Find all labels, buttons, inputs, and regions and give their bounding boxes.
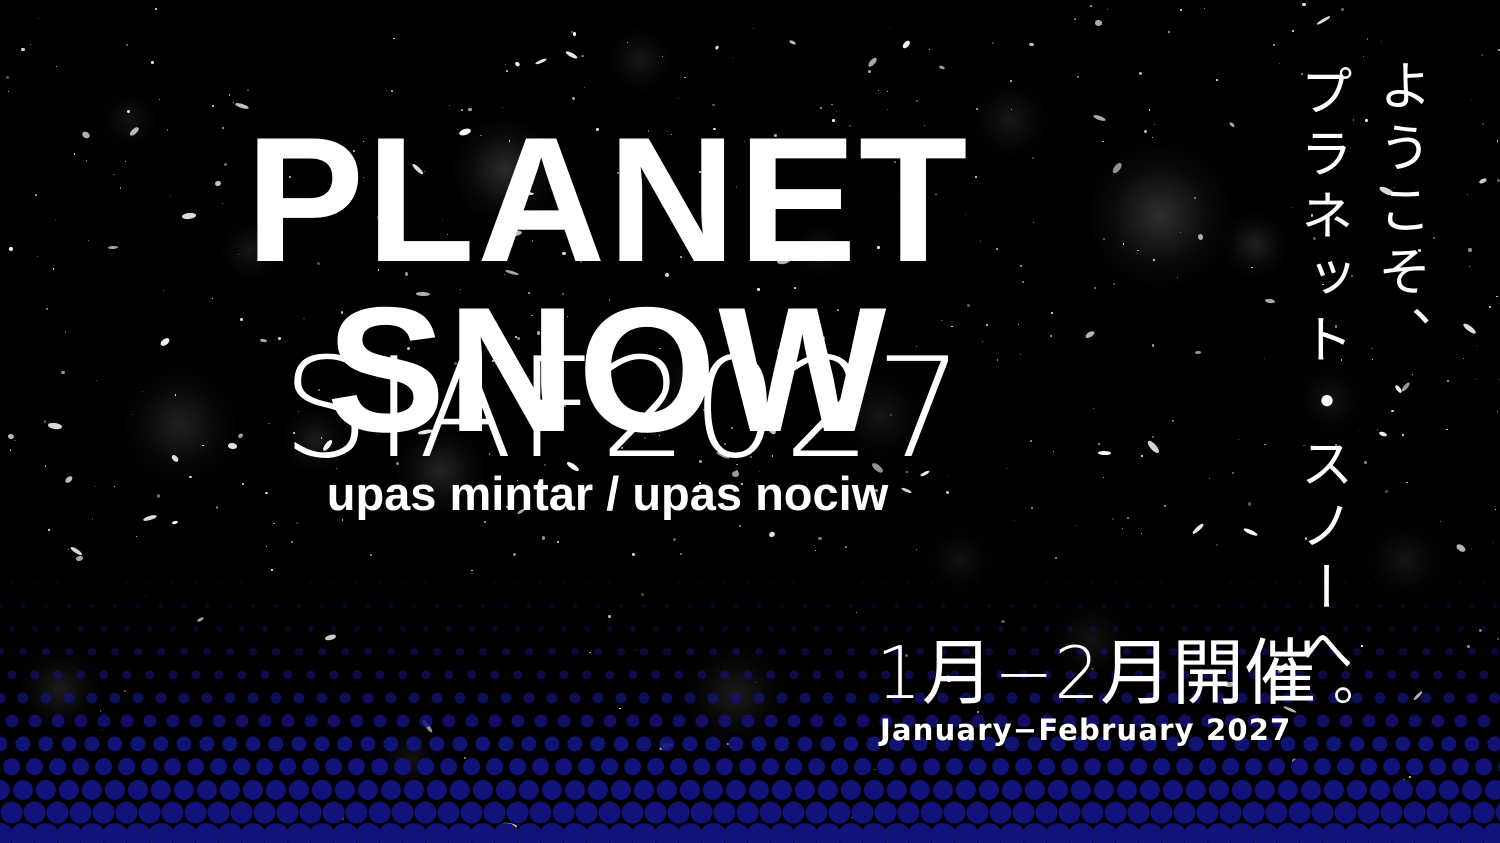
halftone-dot: [245, 736, 260, 751]
halftone-dot: [159, 603, 164, 608]
halftone-dot: [672, 714, 685, 727]
halftone-row: [0, 801, 1500, 824]
halftone-dot: [544, 736, 559, 751]
halftone-dot: [674, 670, 683, 679]
halftone-dot: [189, 714, 202, 727]
halftone-dot: [782, 801, 805, 824]
halftone-dot: [1068, 581, 1072, 585]
halftone-dot: [736, 801, 759, 824]
snowflake-particle: [1094, 20, 1102, 26]
halftone-dot: [661, 692, 672, 703]
halftone-dot: [1487, 736, 1500, 751]
halftone-dot: [1196, 801, 1219, 824]
halftone-dot: [295, 648, 303, 656]
halftone-dot: [597, 558, 600, 561]
halftone-dot: [1288, 801, 1311, 824]
halftone-dot: [1471, 558, 1474, 561]
halftone-dot: [28, 714, 41, 727]
halftone-dot: [424, 581, 428, 585]
halftone-dot: [780, 603, 785, 608]
star-particle: [1467, 194, 1468, 195]
halftone-dot: [3, 758, 21, 776]
halftone-dot: [562, 581, 566, 585]
halftone-dot: [45, 558, 48, 561]
halftone-dot: [1160, 581, 1164, 585]
halftone-dot: [368, 801, 391, 824]
halftone-dot: [102, 823, 128, 843]
halftone-dot: [657, 779, 677, 799]
halftone-dot: [1449, 801, 1472, 824]
star-particle: [1302, 3, 1306, 7]
halftone-dot: [281, 714, 294, 727]
halftone-dot: [125, 581, 129, 585]
star-particle: [1180, 9, 1182, 11]
halftone-dot: [1390, 581, 1394, 585]
halftone-dot: [943, 801, 966, 824]
halftone-dot: [525, 648, 533, 656]
halftone-dot: [723, 581, 727, 585]
star-particle: [581, 55, 584, 58]
halftone-dot: [293, 692, 304, 703]
halftone-dot: [214, 670, 223, 679]
halftone-dot: [1485, 779, 1500, 799]
halftone-dot: [1176, 758, 1194, 776]
halftone-dot: [601, 758, 619, 776]
halftone-dot: [1426, 801, 1449, 824]
halftone-dot: [475, 736, 490, 751]
halftone-dot: [1425, 558, 1428, 561]
halftone-dot: [551, 558, 554, 561]
halftone-dot: [1125, 603, 1130, 608]
halftone-dot: [272, 648, 280, 656]
halftone-dot: [608, 581, 612, 585]
halftone-dot: [1011, 558, 1014, 561]
snowflake-particle: [769, 531, 776, 538]
halftone-dot: [649, 714, 662, 727]
halftone-dot: [801, 648, 809, 656]
halftone-dot: [1376, 648, 1384, 656]
halftone-dot: [1357, 801, 1380, 824]
bokeh-blob: [605, 25, 675, 95]
halftone-dot: [151, 779, 171, 799]
halftone-dot: [210, 758, 228, 776]
halftone-dot: [137, 558, 140, 561]
halftone-dot: [613, 736, 628, 751]
halftone-dot: [723, 823, 749, 843]
halftone-dot: [505, 558, 508, 561]
star-particle: [1076, 525, 1077, 526]
halftone-dot: [528, 558, 531, 561]
halftone-dot: [493, 823, 519, 843]
halftone-dot: [766, 670, 775, 679]
halftone-dot: [91, 558, 94, 561]
halftone-dot: [759, 801, 782, 824]
halftone-dot: [1264, 558, 1267, 561]
halftone-dot: [473, 779, 493, 799]
halftone-dot: [373, 714, 386, 727]
halftone-dot: [114, 558, 117, 561]
halftone-dot: [240, 581, 244, 585]
halftone-dot: [238, 625, 244, 631]
star-particle: [1122, 528, 1124, 530]
halftone-dot: [1150, 801, 1173, 824]
star-particle: [212, 105, 214, 107]
halftone-dot: [828, 801, 851, 824]
halftone-dot: [1380, 801, 1403, 824]
halftone-dot: [1393, 779, 1413, 799]
star-particle: [976, 108, 978, 110]
halftone-dot: [375, 670, 384, 679]
halftone-dot: [1311, 801, 1334, 824]
halftone-dot: [458, 603, 463, 608]
halftone-dot: [459, 558, 462, 561]
halftone-dot: [624, 758, 642, 776]
halftone-dot: [72, 758, 90, 776]
halftone-dot: [102, 581, 106, 585]
halftone-dot: [726, 779, 746, 799]
halftone-dot: [631, 823, 657, 843]
halftone-dot: [799, 692, 810, 703]
halftone-dot: [261, 625, 267, 631]
halftone-dot: [850, 558, 853, 561]
halftone-dot: [1436, 581, 1440, 585]
halftone-dot: [665, 603, 670, 608]
halftone-dot: [270, 692, 281, 703]
halftone-dot: [0, 801, 23, 824]
halftone-dot: [36, 779, 56, 799]
halftone-dot: [0, 558, 2, 561]
halftone-dot: [872, 603, 877, 608]
halftone-dot: [398, 670, 407, 679]
halftone-dot: [291, 736, 306, 751]
halftone-dot: [130, 736, 145, 751]
halftone-dot: [596, 603, 601, 608]
star-particle: [887, 91, 889, 93]
halftone-dot: [629, 625, 635, 631]
halftone-dot: [795, 779, 815, 799]
snowflake-particle: [564, 50, 578, 60]
star-particle: [1497, 411, 1498, 412]
halftone-dot: [1434, 625, 1440, 631]
halftone-dot: [1360, 758, 1378, 776]
halftone-dot: [113, 603, 118, 608]
halftone-dot: [203, 648, 211, 656]
star-particle: [1463, 358, 1464, 359]
halftone-dot: [716, 758, 734, 776]
halftone-dot: [1263, 603, 1268, 608]
halftone-dot: [603, 714, 616, 727]
halftone-dot: [785, 758, 803, 776]
star-particle: [233, 102, 234, 103]
halftone-dot: [1068, 823, 1094, 843]
halftone-dot: [1344, 823, 1370, 843]
halftone-dot: [573, 603, 578, 608]
halftone-dot: [452, 736, 467, 751]
halftone-dot: [755, 648, 763, 656]
halftone-dot: [1140, 779, 1160, 799]
halftone-dot: [1058, 801, 1081, 824]
star-particle: [1074, 18, 1076, 20]
halftone-dot: [302, 758, 320, 776]
halftone-dot: [77, 625, 83, 631]
star-particle: [1251, 267, 1253, 269]
halftone-dot: [826, 603, 831, 608]
halftone-dot: [964, 603, 969, 608]
halftone-dot: [652, 625, 658, 631]
halftone-dot: [509, 758, 527, 776]
halftone-dot: [594, 648, 602, 656]
halftone-dot: [1482, 823, 1500, 843]
halftone-dot: [918, 603, 923, 608]
halftone-dot: [456, 648, 464, 656]
halftone-dot: [1443, 692, 1454, 703]
halftone-dot: [585, 823, 611, 843]
halftone-dot: [1126, 558, 1129, 561]
halftone-dot: [84, 736, 99, 751]
halftone-dot: [534, 714, 547, 727]
halftone-dot: [542, 779, 562, 799]
halftone-dot: [838, 823, 864, 843]
halftone-dot: [907, 581, 911, 585]
halftone-dot: [845, 692, 856, 703]
halftone-dot: [493, 581, 497, 585]
halftone-dot: [559, 670, 568, 679]
star-particle: [753, 28, 755, 30]
halftone-dot: [427, 779, 447, 799]
halftone-dot: [321, 558, 324, 561]
halftone-dot: [344, 558, 347, 561]
halftone-dot: [450, 779, 470, 799]
halftone-dot: [654, 823, 680, 843]
halftone-dot: [988, 558, 991, 561]
halftone-dot: [851, 801, 874, 824]
halftone-dot: [429, 736, 444, 751]
halftone-dot: [1057, 558, 1060, 561]
halftone-dot: [348, 758, 366, 776]
star-particle: [291, 541, 293, 543]
halftone-dot: [107, 736, 122, 751]
halftone-dot: [808, 758, 826, 776]
halftone-dot: [539, 823, 565, 843]
halftone-dot: [251, 603, 256, 608]
halftone-dot: [391, 801, 414, 824]
halftone-dot: [447, 581, 451, 585]
halftone-dot: [555, 758, 573, 776]
halftone-dot: [160, 558, 163, 561]
halftone-dot: [401, 581, 405, 585]
star-particle: [1248, 502, 1252, 506]
halftone-dot: [1367, 581, 1371, 585]
star-particle: [1468, 248, 1471, 251]
halftone-dot: [877, 758, 895, 776]
halftone-dot: [306, 670, 315, 679]
halftone-dot: [739, 758, 757, 776]
halftone-dot: [1186, 779, 1206, 799]
halftone-dot: [283, 670, 292, 679]
halftone-dot: [477, 692, 488, 703]
halftone-dot: [76, 670, 85, 679]
halftone-dot: [1456, 670, 1465, 679]
halftone-dot: [447, 823, 473, 843]
halftone-dot: [588, 779, 608, 799]
halftone-dot: [263, 823, 289, 843]
halftone-dot: [873, 558, 876, 561]
star-particle: [21, 48, 25, 52]
halftone-dot: [516, 823, 542, 843]
halftone-dot: [252, 558, 255, 561]
halftone-dot: [1183, 581, 1187, 585]
halftone-dot: [1199, 758, 1217, 776]
halftone-dot: [440, 758, 458, 776]
halftone-dot: [1240, 603, 1245, 608]
halftone-dot: [567, 736, 582, 751]
halftone-dot: [148, 581, 152, 585]
star-particle: [1149, 109, 1150, 110]
halftone-dot: [1411, 625, 1417, 631]
halftone-dot: [1413, 581, 1417, 585]
star-particle: [1391, 410, 1393, 412]
halftone-dot: [859, 625, 865, 631]
halftone-dot: [56, 823, 82, 843]
halftone-dot: [1452, 758, 1470, 776]
halftone-row: [0, 824, 1500, 843]
halftone-dot: [304, 714, 317, 727]
halftone-dot: [1194, 603, 1199, 608]
halftone-dot: [1038, 758, 1056, 776]
halftone-dot: [1061, 758, 1079, 776]
halftone-dot: [26, 758, 44, 776]
halftone-dot: [744, 625, 750, 631]
star-particle: [1406, 482, 1407, 483]
halftone-dot: [401, 823, 427, 843]
star-particle: [1011, 109, 1012, 110]
poster-canvas: PLANET SNOW upas mintar / upas nociw ようこ…: [0, 0, 1500, 843]
halftone-dot: [65, 648, 73, 656]
snowflake-particle: [1228, 122, 1234, 128]
star-particle: [889, 28, 891, 30]
star-particle: [1402, 434, 1404, 436]
halftone-dot: [1275, 581, 1279, 585]
halftone-dot: [68, 558, 71, 561]
halftone-dot: [1464, 736, 1479, 751]
halftone-dot: [636, 736, 651, 751]
halftone-dot: [332, 581, 336, 585]
halftone-dot: [138, 801, 161, 824]
halftone-dot: [580, 714, 593, 727]
halftone-dot: [470, 581, 474, 585]
halftone-dot: [1494, 558, 1497, 561]
halftone-dot: [638, 692, 649, 703]
halftone-dot: [399, 625, 405, 631]
halftone-dot: [1071, 779, 1091, 799]
halftone-dot: [999, 581, 1003, 585]
star-particle: [732, 57, 733, 58]
halftone-dot: [617, 648, 625, 656]
halftone-dot: [1472, 801, 1495, 824]
halftone-dot: [644, 801, 667, 824]
halftone-dot: [205, 603, 210, 608]
date-english: January−February 2027: [880, 716, 1292, 745]
halftone-dot: [753, 692, 764, 703]
halftone-dot: [620, 558, 623, 561]
halftone-dot: [0, 779, 10, 799]
halftone-dot: [481, 603, 486, 608]
star-particle: [506, 70, 508, 72]
halftone-dot: [700, 823, 726, 843]
halftone-dot: [511, 714, 524, 727]
halftone-dot: [353, 625, 359, 631]
halftone-dot: [253, 801, 276, 824]
halftone-dot: [40, 692, 51, 703]
star-particle: [818, 537, 822, 541]
star-particle: [1077, 76, 1079, 78]
halftone-dot: [479, 648, 487, 656]
halftone-dot: [979, 779, 999, 799]
star-particle: [1090, 5, 1091, 6]
halftone-dot: [843, 736, 858, 751]
halftone-dot: [930, 823, 956, 843]
halftone-dot: [99, 670, 108, 679]
halftone-dot: [217, 581, 221, 585]
halftone-dot: [125, 823, 151, 843]
halftone-dot: [690, 801, 713, 824]
halftone-dot: [339, 692, 350, 703]
halftone-dot: [757, 603, 762, 608]
halftone-dot: [327, 714, 340, 727]
halftone-dot: [565, 779, 585, 799]
halftone-dot: [1275, 823, 1301, 843]
halftone-dot: [1418, 736, 1433, 751]
halftone-dot: [44, 603, 49, 608]
halftone-dot: [858, 670, 867, 679]
halftone-dot: [1379, 558, 1382, 561]
halftone-dot: [833, 714, 846, 727]
halftone-dot: [465, 714, 478, 727]
halftone-dot: [1171, 603, 1176, 608]
halftone-dot: [827, 558, 830, 561]
halftone-dot: [1242, 801, 1265, 824]
halftone-dot: [362, 692, 373, 703]
halftone-dot: [394, 758, 412, 776]
star-particle: [1497, 179, 1500, 182]
halftone-dot: [884, 581, 888, 585]
halftone-dot: [1034, 558, 1037, 561]
halftone-dot: [919, 558, 922, 561]
halftone-dot: [693, 758, 711, 776]
halftone-dot: [836, 625, 842, 631]
halftone-dot: [815, 823, 841, 843]
halftone-dot: [141, 758, 159, 776]
halftone-dot: [1436, 823, 1462, 843]
halftone-dot: [735, 558, 738, 561]
halftone-dot: [732, 648, 740, 656]
halftone-dot: [1365, 625, 1371, 631]
halftone-dot: [920, 801, 943, 824]
halftone-dot: [976, 823, 1002, 843]
halftone-dot: [861, 823, 887, 843]
halftone-dot: [387, 648, 395, 656]
halftone-dot: [164, 758, 182, 776]
halftone-dot: [54, 625, 60, 631]
halftone-dot: [1374, 692, 1385, 703]
vertical-text-welcome: ようこそ、: [1362, 58, 1438, 368]
halftone-dot: [201, 692, 212, 703]
star-particle: [1497, 140, 1499, 142]
halftone-row: [0, 548, 1500, 571]
halftone-dot: [330, 625, 336, 631]
halftone-dot: [1229, 581, 1233, 585]
halftone-dot: [575, 801, 598, 824]
